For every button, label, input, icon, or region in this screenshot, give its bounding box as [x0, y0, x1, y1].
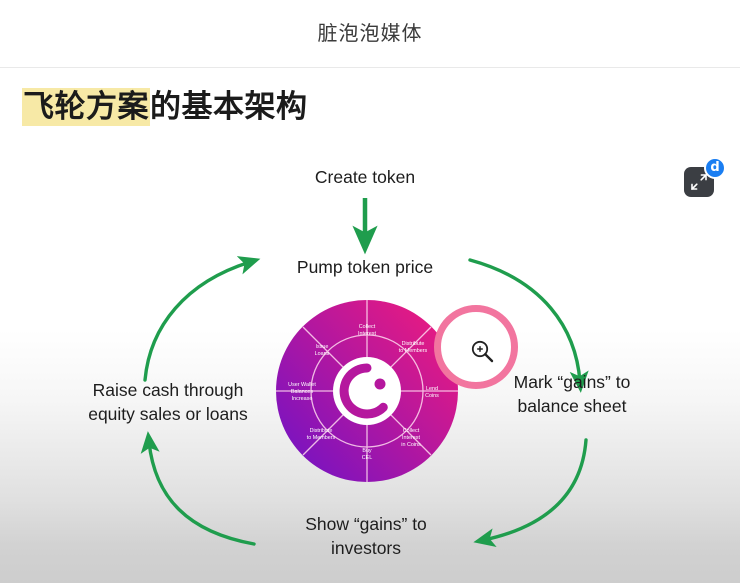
wheel-segment-label: Collect: [403, 428, 420, 434]
arrow-show-to-raise: [149, 442, 254, 544]
wheel-segment-label: CEL: [362, 455, 373, 461]
app-badge-glyph: d: [706, 158, 724, 176]
node-mark-gains: Mark “gains” to balance sheet: [492, 370, 652, 418]
node-show-gains: Show “gains” to investors: [268, 512, 464, 560]
wheel-segment-label: Increase: [292, 396, 313, 402]
app-badge-icon[interactable]: d: [704, 157, 726, 179]
wheel-segment-label: Coins: [425, 393, 439, 399]
site-title: 脏泡泡媒体: [0, 21, 740, 47]
wheel-segment-label: Loans: [315, 351, 330, 357]
node-create-token: Create token: [265, 165, 465, 189]
wheel-segment-label: Buy: [362, 448, 372, 454]
page-title: 飞轮方案的基本架构: [22, 86, 308, 128]
wheel-segment-label: Distribute: [310, 428, 333, 434]
page-title-highlight: 飞轮方案: [22, 88, 150, 126]
page-root: 脏泡泡媒体 飞轮方案的基本架构: [0, 0, 740, 583]
wheel-segment-label: in Coins: [401, 442, 421, 448]
wheel-segment-label: Distribute: [402, 341, 425, 347]
wheel-segment-label: Interest: [402, 435, 420, 441]
wheel-segment-label: Lend: [426, 386, 438, 392]
node-raise-cash: Raise cash through equity sales or loans: [78, 378, 258, 426]
flywheel-diagram: Collect Interest Distribute to Members L…: [0, 140, 740, 583]
arrow-mark-to-show: [484, 440, 586, 540]
wheel-segment-label: Balances: [291, 389, 313, 395]
wheel-segment-label: User Wallet: [288, 382, 316, 388]
site-header: 脏泡泡媒体: [0, 0, 740, 68]
node-pump-token-price: Pump token price: [255, 255, 475, 279]
wheel-segment-label: Interest: [358, 331, 376, 337]
wheel-segment-label: to Members: [307, 435, 336, 441]
wheel-segment-label: Collect: [359, 324, 376, 330]
wheel-segment-label: Issue: [316, 344, 329, 350]
wheel-segment-label: to Members: [399, 348, 428, 354]
arrow-raise-to-pump: [145, 262, 250, 380]
celsius-wheel-graphic: Collect Interest Distribute to Members L…: [276, 300, 458, 482]
magnifier-plus-icon: [469, 338, 495, 364]
page-title-rest: 的基本架构: [150, 89, 308, 124]
celsius-logo-icon: [333, 357, 401, 425]
